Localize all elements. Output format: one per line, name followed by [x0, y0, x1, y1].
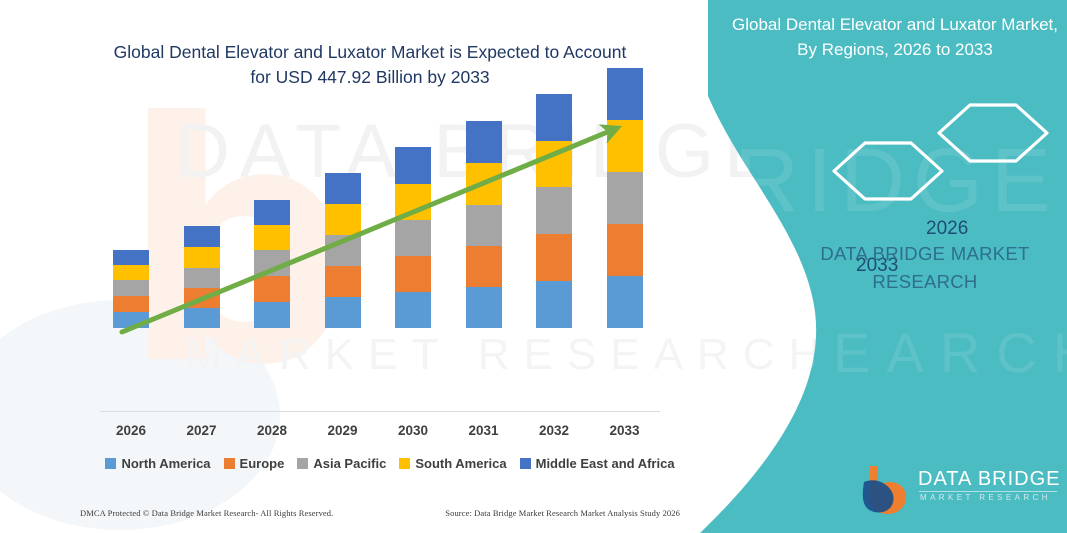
bar-segment-north-america: [113, 312, 149, 328]
x-axis-label-2026: 2026: [101, 423, 161, 438]
right-panel: BRIDGE RESEARCH Global Dental Elevator a…: [680, 0, 1067, 533]
hexagon-shapes: [820, 95, 1067, 225]
bar-segment-asia-pacific: [113, 280, 149, 296]
x-axis-label-2031: 2031: [454, 423, 514, 438]
logo-name: DATA BRIDGE: [918, 468, 1061, 491]
legend-swatch-icon: [105, 458, 116, 469]
panel-title: Global Dental Elevator and Luxator Marke…: [730, 12, 1060, 62]
logo-tagline: MARKET RESEARCH: [920, 493, 1051, 502]
legend-label: North America: [121, 456, 210, 471]
data-bridge-logo: DATA BRIDGE MARKET RESEARCH: [862, 464, 1062, 520]
bar-2031: [466, 121, 502, 328]
bar-segment-asia-pacific: [466, 205, 502, 246]
x-axis-label-2027: 2027: [172, 423, 232, 438]
bar-segment-north-america: [466, 287, 502, 328]
bar-segment-south-america: [184, 247, 220, 268]
bar-segment-south-america: [254, 225, 290, 250]
bar-2029: [325, 173, 361, 328]
legend-label: Europe: [240, 456, 285, 471]
bar-segment-middle-east-and-africa: [113, 250, 149, 265]
chart-legend: North AmericaEuropeAsia PacificSouth Ame…: [90, 456, 690, 471]
x-axis-label-2028: 2028: [242, 423, 302, 438]
bar-segment-europe: [184, 288, 220, 308]
legend-swatch-icon: [224, 458, 235, 469]
legend-label: Middle East and Africa: [536, 456, 675, 471]
bar-2027: [184, 226, 220, 328]
bar-segment-europe: [254, 276, 290, 302]
bar-segment-south-america: [607, 120, 643, 172]
bar-2028: [254, 200, 290, 328]
legend-swatch-icon: [399, 458, 410, 469]
bar-segment-south-america: [113, 265, 149, 280]
x-axis-label-2033: 2033: [595, 423, 655, 438]
x-axis-line: [100, 411, 660, 412]
x-axis-label-2032: 2032: [524, 423, 584, 438]
legend-swatch-icon: [520, 458, 531, 469]
bar-segment-asia-pacific: [395, 220, 431, 256]
bar-segment-south-america: [466, 163, 502, 205]
legend-label: Asia Pacific: [313, 456, 386, 471]
bar-segment-south-america: [325, 204, 361, 235]
bar-2030: [395, 147, 431, 328]
bar-segment-middle-east-and-africa: [466, 121, 502, 163]
bar-segment-middle-east-and-africa: [254, 200, 290, 225]
hexagon-group: 2033 2026: [820, 95, 1067, 220]
bar-segment-europe: [536, 234, 572, 281]
stacked-bar-chart: 20262027202820292030203120322033: [0, 0, 700, 450]
bar-segment-middle-east-and-africa: [184, 226, 220, 247]
bar-segment-asia-pacific: [325, 235, 361, 266]
logo-mark-icon: [862, 464, 918, 516]
bar-segment-asia-pacific: [254, 250, 290, 276]
infographic-root: b DATA BRIDGE MARKET RESEARCH Global Den…: [0, 0, 1067, 533]
footer-copyright: DMCA Protected © Data Bridge Market Rese…: [80, 508, 333, 518]
x-axis-label-2030: 2030: [383, 423, 443, 438]
legend-item-europe[interactable]: Europe: [224, 456, 285, 471]
bar-segment-middle-east-and-africa: [536, 94, 572, 141]
legend-swatch-icon: [297, 458, 308, 469]
bar-segment-asia-pacific: [184, 268, 220, 288]
bar-segment-middle-east-and-africa: [325, 173, 361, 204]
bar-segment-asia-pacific: [607, 172, 643, 224]
bar-2032: [536, 94, 572, 328]
bar-2033: [607, 68, 643, 328]
bar-segment-north-america: [607, 276, 643, 328]
bar-2026: [113, 250, 149, 328]
bar-segment-north-america: [536, 281, 572, 328]
legend-item-middle-east-and-africa[interactable]: Middle East and Africa: [520, 456, 675, 471]
bar-segment-europe: [395, 256, 431, 292]
bar-segment-south-america: [395, 184, 431, 220]
logo-rule: [919, 491, 1057, 492]
bar-segment-europe: [113, 296, 149, 312]
bar-segment-middle-east-and-africa: [607, 68, 643, 120]
hexagon-label-2026: 2026: [926, 218, 968, 240]
legend-item-south-america[interactable]: South America: [399, 456, 506, 471]
legend-item-asia-pacific[interactable]: Asia Pacific: [297, 456, 386, 471]
legend-label: South America: [415, 456, 506, 471]
panel-brand-text: DATA BRIDGE MARKET RESEARCH: [800, 240, 1050, 296]
bar-segment-europe: [325, 266, 361, 297]
bar-segment-north-america: [395, 292, 431, 328]
legend-item-north-america[interactable]: North America: [105, 456, 210, 471]
bar-segment-north-america: [184, 308, 220, 328]
bar-segment-south-america: [536, 141, 572, 187]
bar-segment-europe: [466, 246, 502, 287]
bar-segment-north-america: [325, 297, 361, 328]
x-axis-label-2029: 2029: [313, 423, 373, 438]
bar-segment-north-america: [254, 302, 290, 328]
footer-source: Source: Data Bridge Market Research Mark…: [445, 508, 680, 518]
bar-segment-asia-pacific: [536, 187, 572, 234]
bar-segment-europe: [607, 224, 643, 276]
footer: DMCA Protected © Data Bridge Market Rese…: [80, 508, 680, 518]
bar-segment-middle-east-and-africa: [395, 147, 431, 184]
